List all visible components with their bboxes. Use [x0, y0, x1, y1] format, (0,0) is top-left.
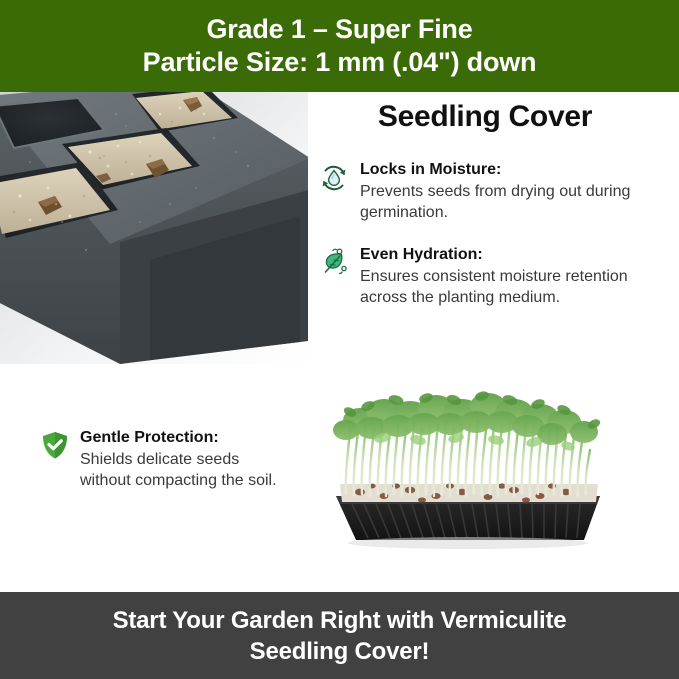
- footer-line-2: Seedling Cover!: [250, 636, 430, 667]
- feature-body: Prevents seeds from drying out during ge…: [360, 181, 670, 223]
- product-infographic: Grade 1 – Super Fine Particle Size: 1 mm…: [0, 0, 679, 679]
- feature-text: Even Hydration: Ensures consistent moist…: [360, 245, 670, 308]
- feature-column: Seedling Cover Locks in Moisture: Preven…: [318, 100, 670, 330]
- feature-text: Locks in Moisture: Prevents seeds from d…: [360, 160, 670, 223]
- feature-heading: Even Hydration:: [360, 245, 670, 265]
- header-line-1: Grade 1 – Super Fine: [206, 13, 472, 46]
- seed-tray-with-vermiculite-photo: [0, 92, 308, 364]
- footer-banner: Start Your Garden Right with Vermiculite…: [0, 592, 679, 679]
- shield-check-icon: [40, 430, 70, 460]
- feature-body: Ensures consistent moisture retention ac…: [360, 266, 670, 308]
- feature-body: Shields delicate seeds without compactin…: [80, 449, 290, 491]
- header-banner: Grade 1 – Super Fine Particle Size: 1 mm…: [0, 0, 679, 92]
- water-drop-recycle-icon: [318, 162, 350, 194]
- feature-item-gentle-protection: Gentle Protection: Shields delicate seed…: [40, 428, 290, 491]
- feature-text: Gentle Protection: Shields delicate seed…: [80, 428, 290, 491]
- header-line-2: Particle Size: 1 mm (.04") down: [143, 46, 537, 79]
- footer-line-1: Start Your Garden Right with Vermiculite: [113, 605, 567, 636]
- page-title: Seedling Cover: [318, 100, 670, 134]
- leaf-droplets-icon: [318, 247, 350, 279]
- feature-item-even-hydration: Even Hydration: Ensures consistent moist…: [318, 245, 670, 308]
- microgreens-tray-photo: [300, 368, 630, 560]
- feature-heading: Gentle Protection:: [80, 428, 290, 448]
- feature-item-locks-in-moisture: Locks in Moisture: Prevents seeds from d…: [318, 160, 670, 223]
- feature-heading: Locks in Moisture:: [360, 160, 670, 180]
